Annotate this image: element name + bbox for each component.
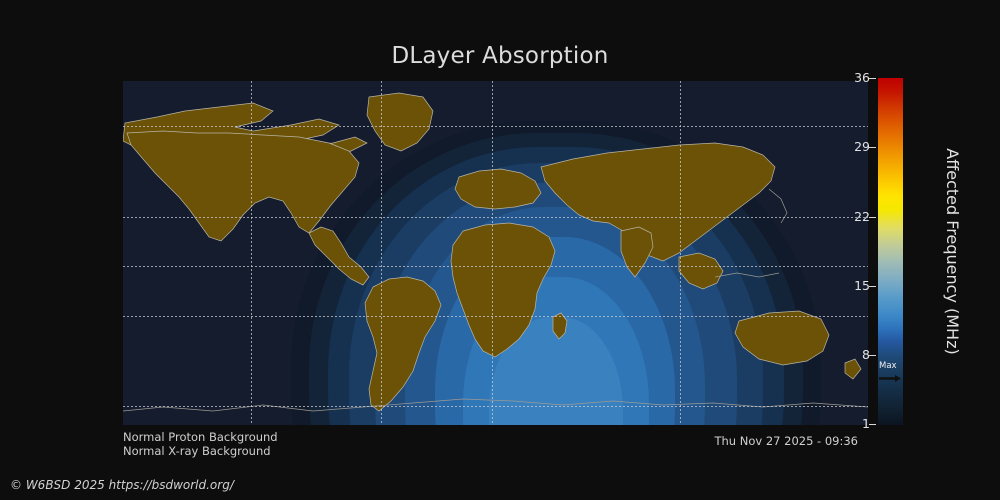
land-europe [455, 169, 541, 209]
colorbar-label-29: 29 [838, 139, 870, 154]
arrow-right-icon [879, 374, 902, 383]
land-new-zealand [845, 359, 861, 379]
land-southeast-asia [679, 253, 723, 289]
land-mexico-central-america [309, 227, 369, 285]
land-canada-usa [127, 131, 359, 241]
coastline-japan [769, 189, 787, 223]
colorbar-label-22: 22 [838, 209, 870, 224]
timestamp: Thu Nov 27 2025 - 09:36 [0, 434, 858, 448]
colorbar-tick-1 [869, 424, 876, 425]
coastlines-layer [123, 81, 868, 425]
world-map[interactable] [123, 81, 868, 425]
colorbar-tick-22 [869, 217, 876, 218]
copyright-notice: © W6BSD 2025 https://bsdworld.org/ [10, 478, 234, 492]
coastline-antarctica [123, 399, 868, 411]
colorbar-label-1: 1 [838, 416, 870, 431]
land-greenland [367, 93, 433, 151]
colorbar-label-8: 8 [838, 347, 870, 362]
colorbar-tick-8 [869, 355, 876, 356]
colorbar-tick-36 [869, 78, 876, 79]
land-madagascar [553, 313, 567, 339]
land-india [621, 227, 653, 277]
colorbar-tick-29 [869, 147, 876, 148]
dlayer-absorption-map-view: DLayer Absorption [0, 0, 1000, 500]
land-australia [735, 311, 829, 365]
land-asia [541, 143, 775, 261]
max-marker-label: Max [879, 361, 897, 371]
land-africa [451, 223, 555, 357]
coastline-indonesia [715, 273, 779, 277]
colorbar-tick-15 [869, 286, 876, 287]
colorbar-label-36: 36 [838, 70, 870, 85]
page-title: DLayer Absorption [0, 43, 1000, 69]
colorbar-max-marker: Max [878, 362, 903, 386]
colorbar-label-15: 15 [838, 278, 870, 293]
colorbar-title: Affected Frequency (MHz) [941, 78, 963, 425]
land-south-america [365, 277, 441, 411]
